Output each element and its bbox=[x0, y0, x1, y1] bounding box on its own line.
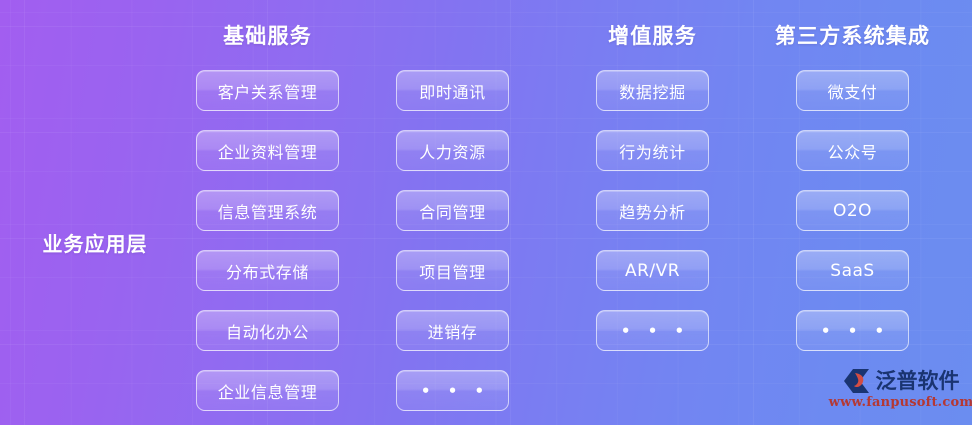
diagram-canvas: 业务应用层 基础服务 增值服务 第三方系统集成 客户关系管理 企业资料管理 信息… bbox=[0, 0, 972, 425]
module-pill[interactable]: 合同管理 bbox=[396, 190, 509, 231]
module-pill-more[interactable]: • • • bbox=[396, 370, 509, 411]
module-pill[interactable]: 趋势分析 bbox=[596, 190, 709, 231]
watermark-url: www.fanpusoft.com bbox=[829, 394, 972, 412]
module-pill[interactable]: 人力资源 bbox=[396, 130, 509, 171]
module-pill[interactable]: 数据挖掘 bbox=[596, 70, 709, 111]
fanpu-logo-icon bbox=[843, 368, 873, 394]
watermark-logo: 泛普软件 www.fanpusoft.com bbox=[836, 368, 966, 418]
module-pill[interactable]: AR/VR bbox=[596, 250, 709, 291]
module-pill[interactable]: 即时通讯 bbox=[396, 70, 509, 111]
module-pill[interactable]: 信息管理系统 bbox=[196, 190, 339, 231]
column-title-third-party-integration: 第三方系统集成 bbox=[756, 20, 949, 50]
column-value-added-services: 数据挖掘 行为统计 趋势分析 AR/VR • • • bbox=[596, 70, 709, 351]
column-application-modules: 客户关系管理 企业资料管理 信息管理系统 分布式存储 自动化办公 企业信息管理 bbox=[196, 70, 339, 411]
column-title-basic-services: 基础服务 bbox=[196, 20, 339, 50]
watermark-brand: 泛普软件 bbox=[876, 371, 960, 392]
module-pill[interactable]: 客户关系管理 bbox=[196, 70, 339, 111]
module-pill[interactable]: 分布式存储 bbox=[196, 250, 339, 291]
module-pill[interactable]: 公众号 bbox=[796, 130, 909, 171]
module-pill[interactable]: 企业信息管理 bbox=[196, 370, 339, 411]
module-pill[interactable]: SaaS bbox=[796, 250, 909, 291]
module-pill[interactable]: O2O bbox=[796, 190, 909, 231]
layer-label: 业务应用层 bbox=[0, 228, 190, 257]
module-pill[interactable]: 进销存 bbox=[396, 310, 509, 351]
module-pill[interactable]: 自动化办公 bbox=[196, 310, 339, 351]
column-basic-services: 即时通讯 人力资源 合同管理 项目管理 进销存 • • • bbox=[396, 70, 509, 411]
watermark-row: 泛普软件 bbox=[843, 368, 960, 394]
module-pill[interactable]: 企业资料管理 bbox=[196, 130, 339, 171]
module-pill[interactable]: 行为统计 bbox=[596, 130, 709, 171]
module-pill[interactable]: 项目管理 bbox=[396, 250, 509, 291]
module-pill-more[interactable]: • • • bbox=[796, 310, 909, 351]
column-title-value-added-services: 增值服务 bbox=[566, 20, 739, 50]
column-third-party-integration: 微支付 公众号 O2O SaaS • • • bbox=[796, 70, 909, 351]
module-pill[interactable]: 微支付 bbox=[796, 70, 909, 111]
module-pill-more[interactable]: • • • bbox=[596, 310, 709, 351]
